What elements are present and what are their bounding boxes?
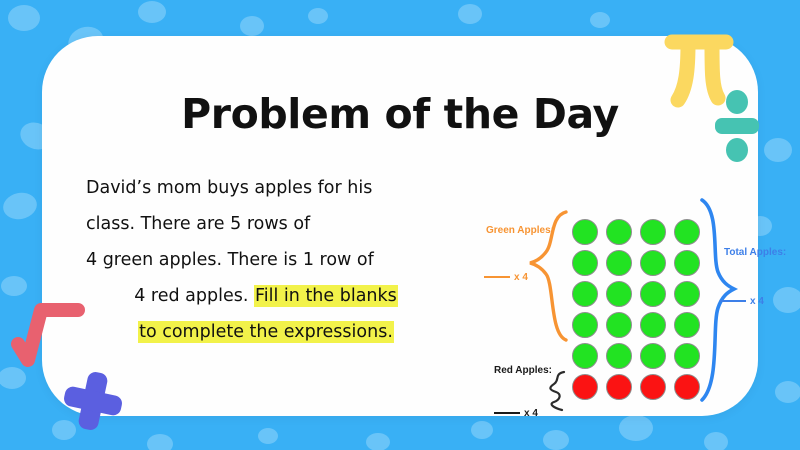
green-apple: [572, 343, 598, 369]
green-apple: [674, 343, 700, 369]
green-apple-row: [572, 219, 700, 245]
green-apple: [674, 281, 700, 307]
divide-symbol-icon: [712, 88, 762, 164]
green-apple: [640, 219, 666, 245]
content-card: Problem of the Day David’s mom buys appl…: [42, 36, 758, 416]
apple-diagram: Green Apples: x 4 Red Apples: x 4 Total …: [472, 186, 800, 436]
green-apple: [674, 250, 700, 276]
problem-line-4-highlight: Fill in the blanks: [254, 285, 398, 307]
green-apple: [572, 281, 598, 307]
square-root-symbol-icon: [8, 296, 88, 376]
green-apples-blank[interactable]: x 4: [484, 272, 528, 283]
blank-underscore[interactable]: [494, 412, 520, 414]
red-apples-multiplier: x 4: [524, 408, 538, 419]
red-apples-blank[interactable]: x 4: [494, 408, 538, 419]
green-apple: [640, 250, 666, 276]
red-apple: [674, 374, 700, 400]
total-apples-label: Total Apples:: [724, 246, 786, 259]
green-apple-row: [572, 281, 700, 307]
green-apple: [606, 343, 632, 369]
red-apple: [572, 374, 598, 400]
green-apple: [674, 312, 700, 338]
green-apples-multiplier: x 4: [514, 272, 528, 283]
red-apple: [640, 374, 666, 400]
total-apples-multiplier: x 4: [750, 296, 764, 307]
problem-line-4: 4 red apples. Fill in the blanks: [86, 278, 446, 314]
page-title: Problem of the Day: [42, 90, 758, 138]
green-apple: [606, 312, 632, 338]
problem-line-1: David’s mom buys apples for his: [86, 170, 446, 206]
green-apples-label: Green Apples:: [486, 224, 554, 237]
green-apple: [606, 250, 632, 276]
green-apple: [606, 281, 632, 307]
green-apple: [640, 281, 666, 307]
problem-line-5: to complete the expressions.: [86, 314, 446, 350]
red-apple: [606, 374, 632, 400]
problem-line-5-highlight: to complete the expressions.: [138, 321, 394, 343]
green-apple-row: [572, 343, 700, 369]
green-apple: [674, 219, 700, 245]
problem-statement: David’s mom buys apples for his class. T…: [86, 170, 446, 350]
green-apple: [606, 219, 632, 245]
slide-canvas: Problem of the Day David’s mom buys appl…: [0, 0, 800, 450]
green-apple-grid: [572, 219, 700, 374]
green-apple-row: [572, 312, 700, 338]
red-apples-brace: [550, 372, 564, 410]
green-apple-row: [572, 250, 700, 276]
blank-underscore[interactable]: [720, 300, 746, 302]
red-apple-row: [572, 374, 700, 400]
green-apple: [572, 250, 598, 276]
green-apple: [572, 312, 598, 338]
problem-line-2: class. There are 5 rows of: [86, 206, 446, 242]
problem-line-4-plain: 4 red apples.: [134, 286, 254, 306]
blank-underscore[interactable]: [484, 276, 510, 278]
green-apple: [640, 312, 666, 338]
plus-symbol-icon: [58, 366, 128, 436]
problem-line-3: 4 green apples. There is 1 row of: [86, 242, 446, 278]
total-apples-blank[interactable]: x 4: [720, 296, 764, 307]
green-apple: [640, 343, 666, 369]
red-apples-label: Red Apples:: [494, 364, 552, 377]
green-apple: [572, 219, 598, 245]
